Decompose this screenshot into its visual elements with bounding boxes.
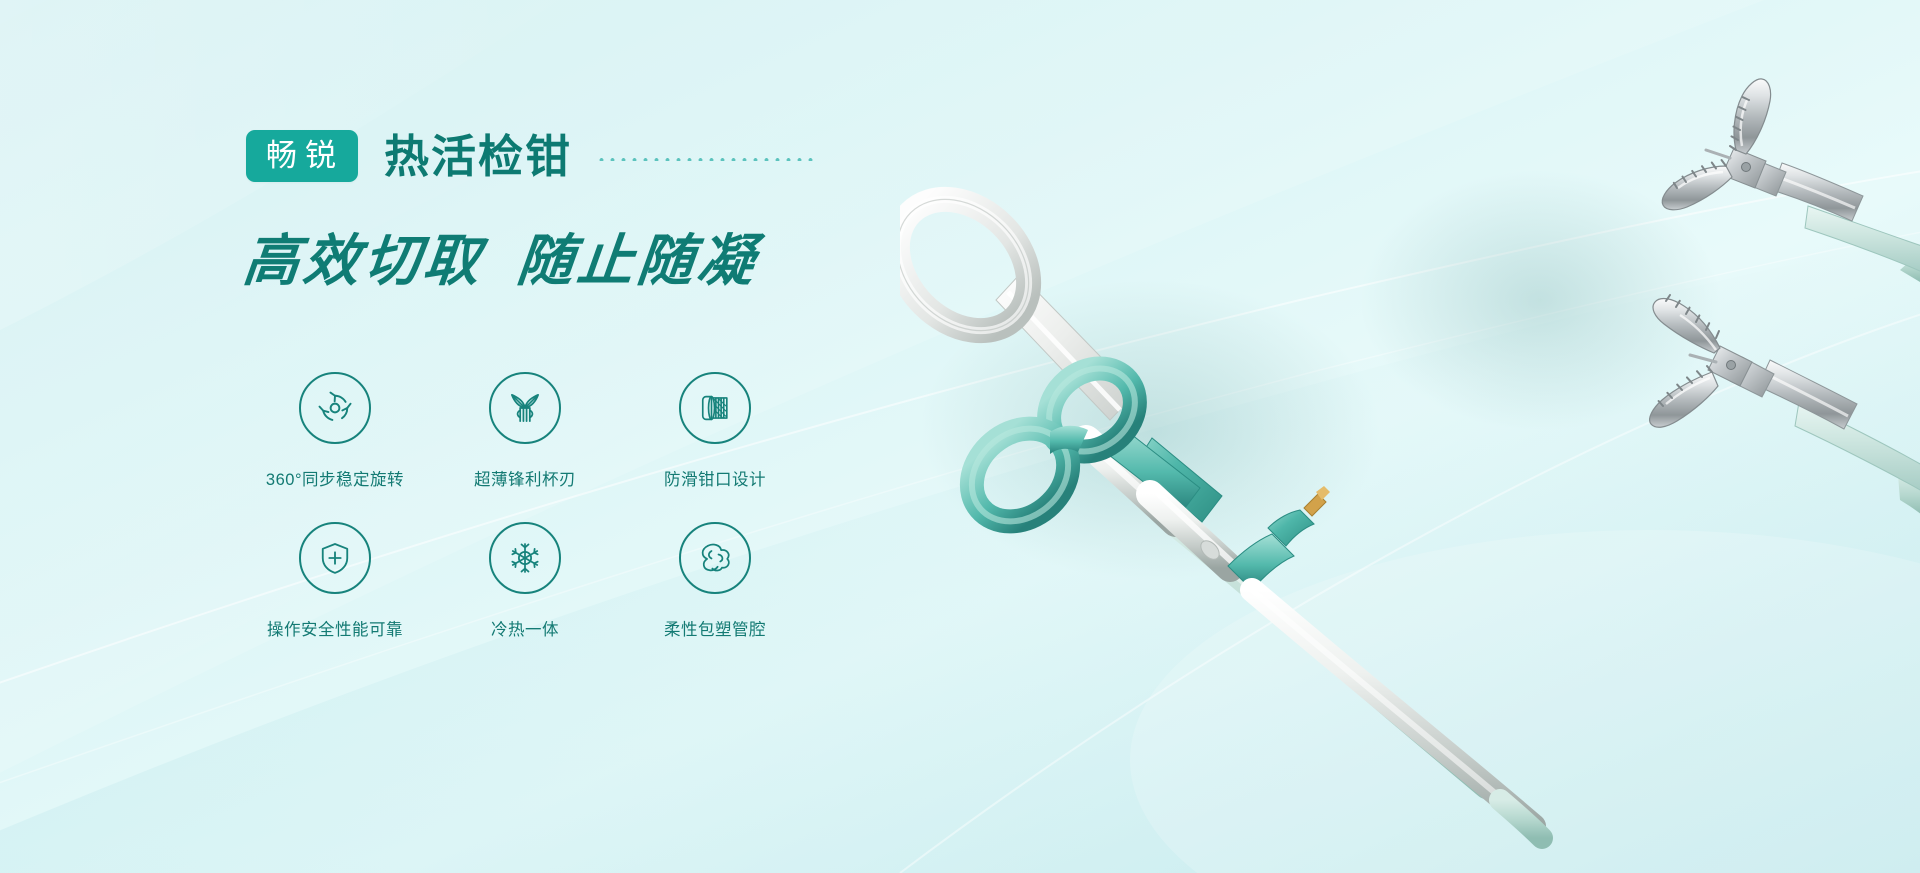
feature-label: 防滑钳口设计 (664, 466, 766, 490)
feature-item: 超薄锋利杯刃 (430, 372, 620, 522)
page-title: 热活检钳 (384, 134, 572, 179)
anti-slip-jaw-icon (694, 387, 736, 429)
feature-item: 操作安全性能可靠 (240, 522, 430, 672)
hot-cold-integrated-icon (504, 537, 546, 579)
feature-label: 冷热一体 (491, 616, 559, 640)
feature-label: 操作安全性能可靠 (267, 616, 403, 640)
biopsy-cup-blade-icon (504, 387, 546, 429)
feature-icon-wrap (489, 522, 561, 594)
feature-grid: 360°同步稳定旋转 (240, 372, 810, 672)
brand-badge: 畅锐 (246, 130, 358, 182)
title-row: 畅锐 热活检钳 (246, 130, 814, 182)
feature-icon-wrap (489, 372, 561, 444)
safety-shield-icon (314, 537, 356, 579)
feature-item: 冷热一体 (430, 522, 620, 672)
feature-item: 柔性包塑管腔 (620, 522, 810, 672)
slogan-part-1: 高效切取 (240, 231, 487, 293)
feature-item: 360°同步稳定旋转 (240, 372, 430, 522)
feature-icon-wrap (299, 522, 371, 594)
slogan-part-2: 随止随凝 (514, 231, 761, 293)
feature-icon-wrap (679, 372, 751, 444)
feature-label: 柔性包塑管腔 (664, 616, 766, 640)
product-banner: 畅锐 热活检钳 高效切取随止随凝 (0, 0, 1920, 873)
feature-label: 360°同步稳定旋转 (266, 466, 404, 490)
forceps-tip-lower (1650, 295, 1920, 515)
feature-item: 防滑钳口设计 (620, 372, 810, 522)
slogan: 高效切取随止随凝 (240, 216, 763, 297)
left-content-column: 畅锐 热活检钳 高效切取随止随凝 (240, 0, 860, 873)
flexible-coated-lumen-icon (694, 537, 736, 579)
feature-label: 超薄锋利杯刃 (474, 466, 576, 490)
rotation-360-icon (314, 387, 356, 429)
dotted-divider (596, 157, 814, 161)
feature-icon-wrap (679, 522, 751, 594)
feature-icon-wrap (299, 372, 371, 444)
hot-biopsy-forceps-photo (900, 0, 1920, 873)
